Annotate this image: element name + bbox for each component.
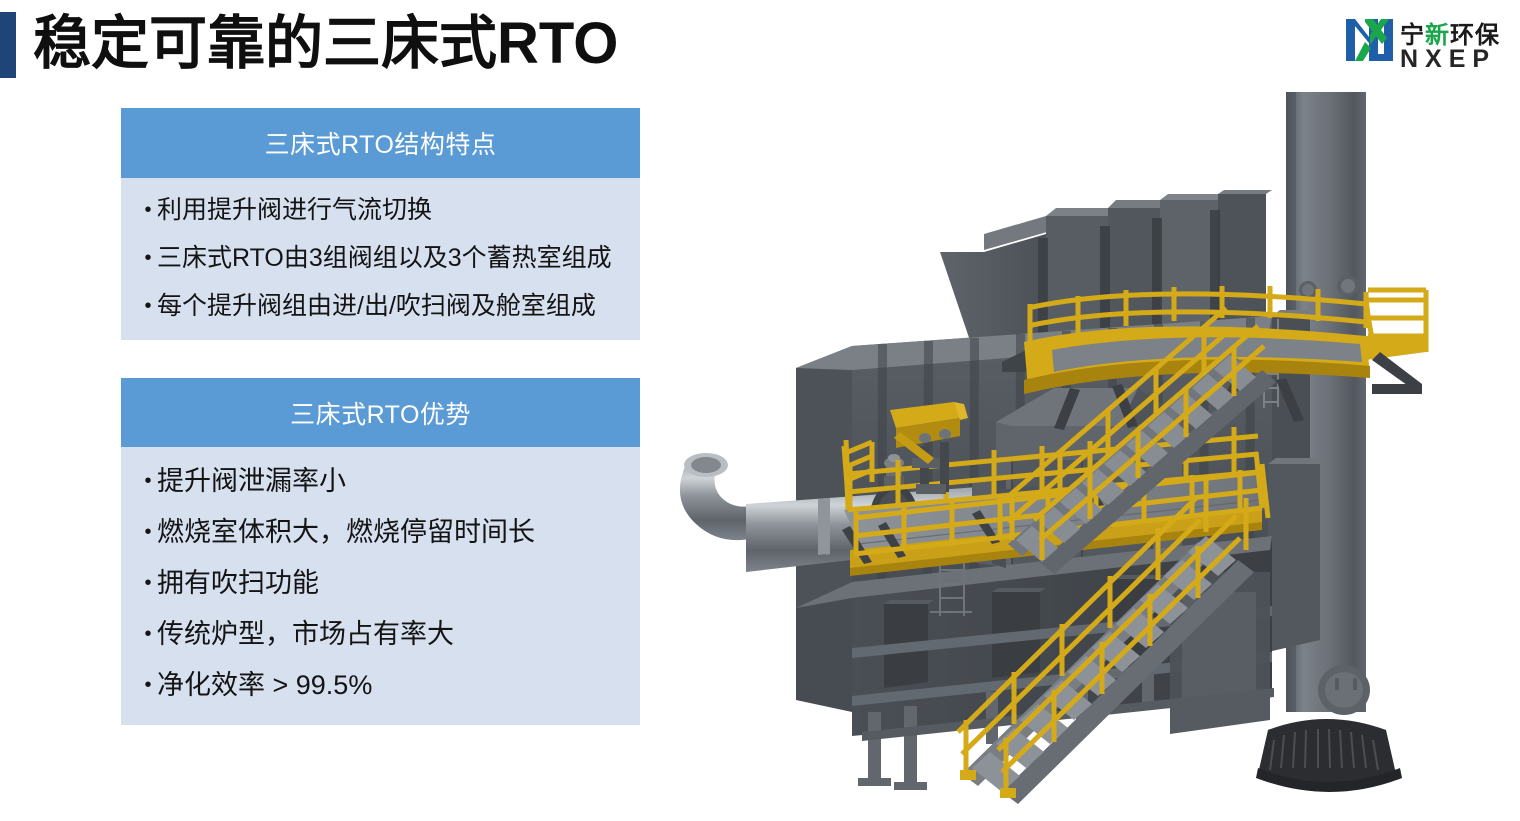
card-advantages-body: • 提升阀泄漏率小 • 燃烧室体积大，燃烧停留时间长 • 拥有吹扫功能 • 传统…: [121, 447, 640, 725]
logo-english-name: NXEP: [1400, 45, 1496, 74]
list-item-label: 燃烧室体积大，燃烧停留时间长: [157, 507, 624, 558]
list-item: • 提升阀泄漏率小: [121, 456, 640, 507]
bullet-dot-icon: •: [139, 234, 157, 282]
bullet-dot-icon: •: [139, 609, 157, 660]
card-advantages-header: 三床式RTO优势: [121, 378, 640, 447]
list-item: • 三床式RTO由3组阀组以及3个蓄热室组成: [121, 234, 640, 282]
list-item: • 净化效率 > 99.5%: [121, 660, 640, 711]
list-item: • 传统炉型，市场占有率大: [121, 609, 640, 660]
card-advantages-header-label: 三床式RTO优势: [290, 395, 471, 431]
list-item: • 燃烧室体积大，燃烧停留时间长: [121, 507, 640, 558]
list-item: • 利用提升阀进行气流切换: [121, 186, 640, 234]
card-structure-body: • 利用提升阀进行气流切换 • 三床式RTO由3组阀组以及3个蓄热室组成 • 每…: [121, 178, 640, 340]
page-title: 稳定可靠的三床式RTO: [33, 8, 618, 80]
list-item-label: 每个提升阀组由进/出/吹扫阀及舱室组成: [157, 282, 624, 330]
card-structure-features: 三床式RTO结构特点 • 利用提升阀进行气流切换 • 三床式RTO由3组阀组以及…: [121, 108, 640, 340]
card-advantages: 三床式RTO优势 • 提升阀泄漏率小 • 燃烧室体积大，燃烧停留时间长 • 拥有…: [121, 378, 640, 725]
bullet-dot-icon: •: [139, 456, 157, 507]
bullet-dot-icon: •: [139, 558, 157, 609]
list-item-label: 净化效率 > 99.5%: [157, 660, 624, 711]
bullet-dot-icon: •: [139, 507, 157, 558]
list-item-label: 三床式RTO由3组阀组以及3个蓄热室组成: [157, 234, 624, 282]
list-item-label: 利用提升阀进行气流切换: [157, 186, 624, 234]
title-accent-bar: [0, 12, 16, 78]
bullet-dot-icon: •: [139, 660, 157, 711]
card-structure-header: 三床式RTO结构特点: [121, 108, 640, 178]
nxep-logo-mark-icon: [1344, 16, 1396, 64]
list-item-label: 拥有吹扫功能: [157, 558, 624, 609]
three-bed-rto-render-image: [672, 92, 1520, 821]
list-item-label: 传统炉型，市场占有率大: [157, 609, 624, 660]
card-structure-header-label: 三床式RTO结构特点: [265, 125, 497, 161]
list-item-label: 提升阀泄漏率小: [157, 456, 624, 507]
company-logo: 宁新环保 NXEP: [1344, 14, 1512, 80]
list-item: • 每个提升阀组由进/出/吹扫阀及舱室组成: [121, 282, 640, 330]
list-item: • 拥有吹扫功能: [121, 558, 640, 609]
bullet-dot-icon: •: [139, 186, 157, 234]
bullet-dot-icon: •: [139, 282, 157, 330]
